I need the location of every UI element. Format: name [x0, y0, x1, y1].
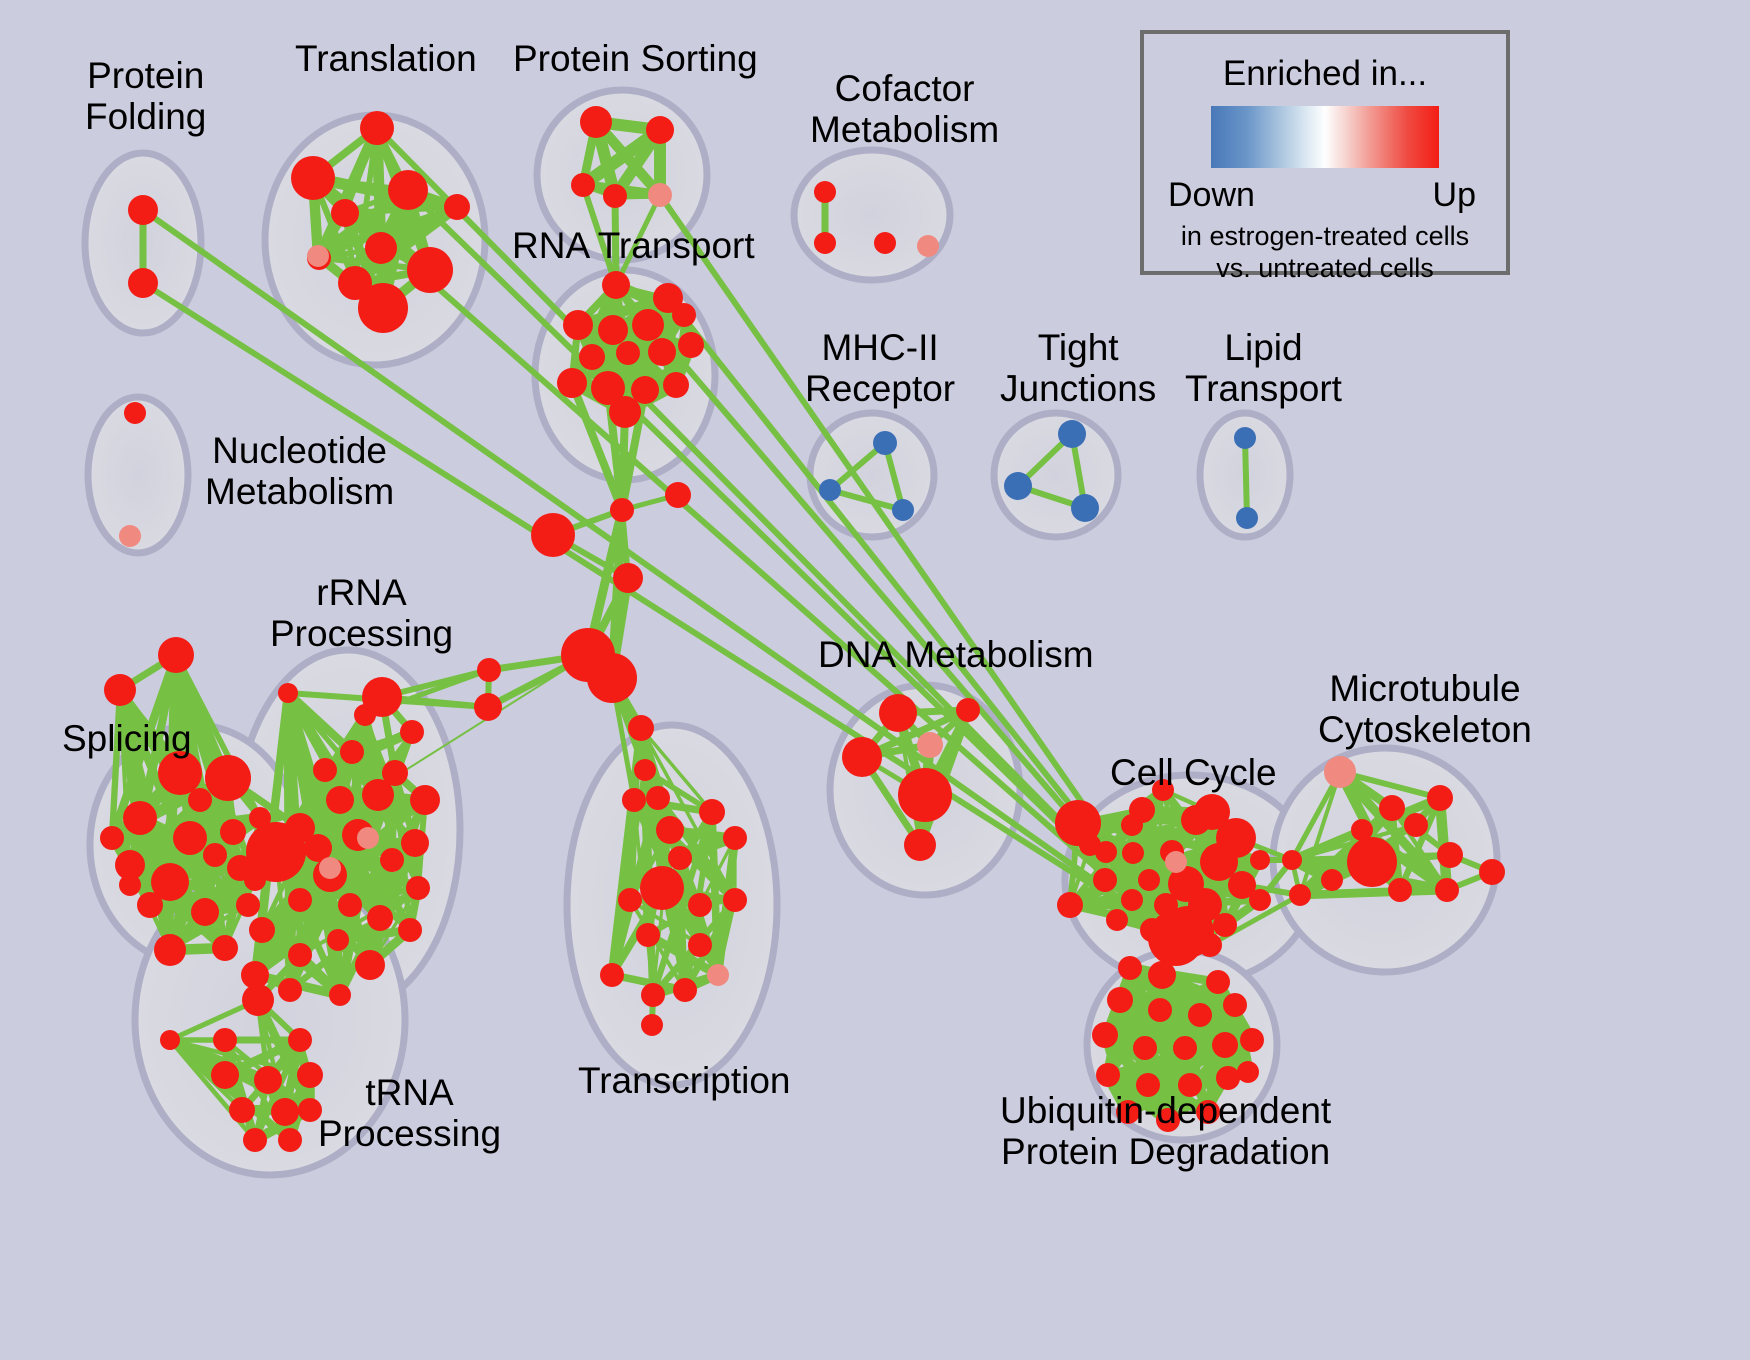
network-node: [119, 525, 141, 547]
network-node: [1122, 842, 1144, 864]
network-node: [1321, 869, 1343, 891]
network-node: [104, 674, 136, 706]
network-node: [1249, 889, 1271, 911]
network-node: [243, 1128, 267, 1152]
network-node: [678, 332, 704, 358]
network-node: [598, 315, 628, 345]
network-node: [1250, 850, 1270, 870]
network-node: [326, 786, 354, 814]
network-node: [656, 816, 684, 844]
network-node: [917, 732, 943, 758]
network-node: [1479, 859, 1505, 885]
network-node: [229, 1097, 255, 1123]
network-node: [160, 1030, 180, 1050]
network-node: [1212, 1032, 1238, 1058]
network-node: [1213, 913, 1237, 937]
network-node: [254, 1066, 282, 1094]
network-node: [1216, 1066, 1240, 1090]
network-node: [646, 786, 670, 810]
network-node: [1347, 837, 1397, 887]
network-node: [641, 983, 665, 1007]
network-node: [571, 173, 595, 197]
network-node: [271, 1098, 299, 1126]
network-node: [410, 785, 440, 815]
network-node: [388, 170, 428, 210]
hull-cofactor: [794, 150, 950, 280]
network-node: [236, 893, 260, 917]
network-node: [646, 116, 674, 144]
network-node: [1058, 420, 1086, 448]
network-node: [1136, 1073, 1160, 1097]
network-node: [819, 479, 841, 501]
network-node: [879, 694, 917, 732]
network-node: [307, 245, 329, 267]
network-node: [291, 156, 335, 200]
network-node: [1118, 956, 1142, 980]
network-edge: [1245, 438, 1247, 518]
network-node: [1379, 795, 1405, 821]
network-node: [648, 338, 676, 366]
network-node: [119, 874, 141, 896]
network-node: [407, 247, 453, 293]
legend-low-label: Down: [1168, 176, 1255, 215]
network-node: [1236, 507, 1258, 529]
network-edge: [1300, 890, 1447, 895]
network-node: [699, 799, 725, 825]
network-node: [128, 268, 158, 298]
network-node: [1427, 785, 1453, 811]
network-node: [203, 843, 227, 867]
network-node: [1121, 889, 1143, 911]
network-node: [1388, 878, 1412, 902]
network-node: [398, 918, 422, 942]
network-node: [613, 563, 643, 593]
network-node: [313, 758, 337, 782]
network-node: [100, 826, 124, 850]
network-node: [249, 917, 275, 943]
network-node: [1178, 1073, 1202, 1097]
network-node: [579, 344, 605, 370]
network-node: [587, 653, 637, 703]
network-node: [358, 283, 408, 333]
network-node: [641, 1014, 663, 1036]
network-node: [1237, 1061, 1259, 1083]
network-node: [288, 943, 312, 967]
network-node: [1282, 850, 1302, 870]
network-node: [211, 1061, 239, 1089]
network-node: [917, 235, 939, 257]
network-node: [1057, 892, 1083, 918]
network-edge: [1128, 968, 1130, 1112]
network-node: [158, 637, 194, 673]
network-node: [1206, 970, 1230, 994]
network-node: [288, 1028, 312, 1052]
network-node: [1106, 909, 1128, 931]
network-node: [124, 402, 146, 424]
network-node: [1196, 1100, 1220, 1124]
network-node: [362, 677, 402, 717]
network-node: [123, 801, 157, 835]
network-node: [1138, 869, 1160, 891]
legend-high-label: Up: [1433, 176, 1476, 215]
network-node: [128, 195, 158, 225]
network-node: [400, 720, 424, 744]
network-node: [331, 199, 359, 227]
network-node: [212, 935, 238, 961]
network-node: [380, 848, 404, 872]
network-node: [668, 846, 692, 870]
network-node: [154, 934, 186, 966]
network-node: [357, 827, 379, 849]
network-node: [707, 964, 729, 986]
network-node: [648, 183, 672, 207]
network-node: [246, 822, 306, 882]
network-node: [898, 768, 952, 822]
network-node: [327, 929, 349, 951]
network-node: [1156, 1108, 1180, 1132]
network-node: [1071, 494, 1099, 522]
network-node: [137, 892, 163, 918]
network-node: [609, 396, 641, 428]
network-node: [1437, 842, 1463, 868]
network-node: [602, 271, 630, 299]
enrichment-map-figure: Protein Folding Translation Protein Sort…: [0, 0, 1750, 1360]
network-node: [665, 482, 691, 508]
network-node: [1240, 1028, 1264, 1052]
network-node: [297, 1062, 323, 1088]
network-node: [360, 111, 394, 145]
network-node: [688, 933, 712, 957]
network-node: [814, 232, 836, 254]
network-node: [191, 898, 219, 926]
network-node: [401, 829, 429, 857]
network-node: [874, 232, 896, 254]
network-node: [213, 1028, 237, 1052]
network-node: [367, 905, 393, 931]
network-node: [173, 821, 207, 855]
network-node: [610, 498, 634, 522]
network-node: [288, 888, 312, 912]
network-node: [1435, 878, 1459, 902]
network-node: [1148, 910, 1204, 966]
network-node: [814, 181, 836, 203]
network-node: [444, 194, 470, 220]
network-node: [1107, 987, 1133, 1013]
network-node: [580, 106, 612, 138]
network-node: [603, 184, 627, 208]
network-node: [338, 893, 362, 917]
network-node: [892, 499, 914, 521]
network-node: [278, 978, 302, 1002]
network-node: [622, 788, 646, 812]
network-node: [723, 888, 747, 912]
network-node: [956, 698, 980, 722]
network-node: [1223, 993, 1247, 1017]
legend-subtitle: in estrogen-treated cells vs. untreated …: [1144, 220, 1506, 285]
network-node: [1289, 884, 1311, 906]
network-node: [1165, 851, 1187, 873]
network-node: [616, 341, 640, 365]
network-node: [628, 715, 654, 741]
network-node: [663, 372, 689, 398]
network-node: [640, 866, 684, 910]
network-node: [563, 310, 593, 340]
network-node: [1096, 1063, 1120, 1087]
network-node: [474, 693, 502, 721]
network-node: [205, 755, 251, 801]
network-node: [688, 893, 712, 917]
hull-protein-sorting: [537, 90, 707, 260]
network-node: [1004, 472, 1032, 500]
network-node: [329, 984, 351, 1006]
legend-title: Enriched in...: [1144, 54, 1506, 94]
network-node: [1133, 1036, 1157, 1060]
network-node: [1152, 779, 1174, 801]
network-node: [1116, 1100, 1140, 1124]
network-node: [672, 303, 696, 327]
network-node: [1234, 427, 1256, 449]
network-node: [632, 309, 664, 341]
network-node: [600, 963, 624, 987]
network-node: [1188, 1003, 1212, 1027]
network-node: [1095, 841, 1117, 863]
color-legend: Enriched in... Down Up in estrogen-treat…: [1140, 30, 1510, 275]
network-node: [1148, 998, 1172, 1022]
network-node: [278, 1128, 302, 1152]
network-node: [634, 759, 656, 781]
network-node: [842, 737, 882, 777]
network-node: [382, 760, 408, 786]
network-node: [477, 658, 501, 682]
network-node: [1092, 1022, 1118, 1048]
network-node: [1173, 1036, 1197, 1060]
network-node: [158, 751, 202, 795]
network-node: [220, 819, 246, 845]
network-node: [531, 513, 575, 557]
network-node: [365, 232, 397, 264]
network-node: [188, 788, 212, 812]
network-node: [636, 923, 660, 947]
network-node: [1093, 868, 1117, 892]
network-node: [723, 826, 747, 850]
network-node: [618, 888, 642, 912]
network-node: [557, 368, 587, 398]
network-node: [406, 876, 430, 900]
hull-mhc: [810, 413, 934, 537]
network-node: [873, 431, 897, 455]
network-node: [278, 683, 298, 703]
network-node: [673, 978, 697, 1002]
network-node: [319, 857, 341, 879]
network-node: [298, 1098, 322, 1122]
network-node: [1324, 756, 1356, 788]
network-node: [355, 950, 385, 980]
network-node: [1121, 814, 1143, 836]
legend-gradient-bar: [1211, 106, 1439, 168]
network-node: [340, 740, 364, 764]
network-node: [904, 829, 936, 861]
network-node: [1404, 813, 1428, 837]
network-node: [242, 984, 274, 1016]
